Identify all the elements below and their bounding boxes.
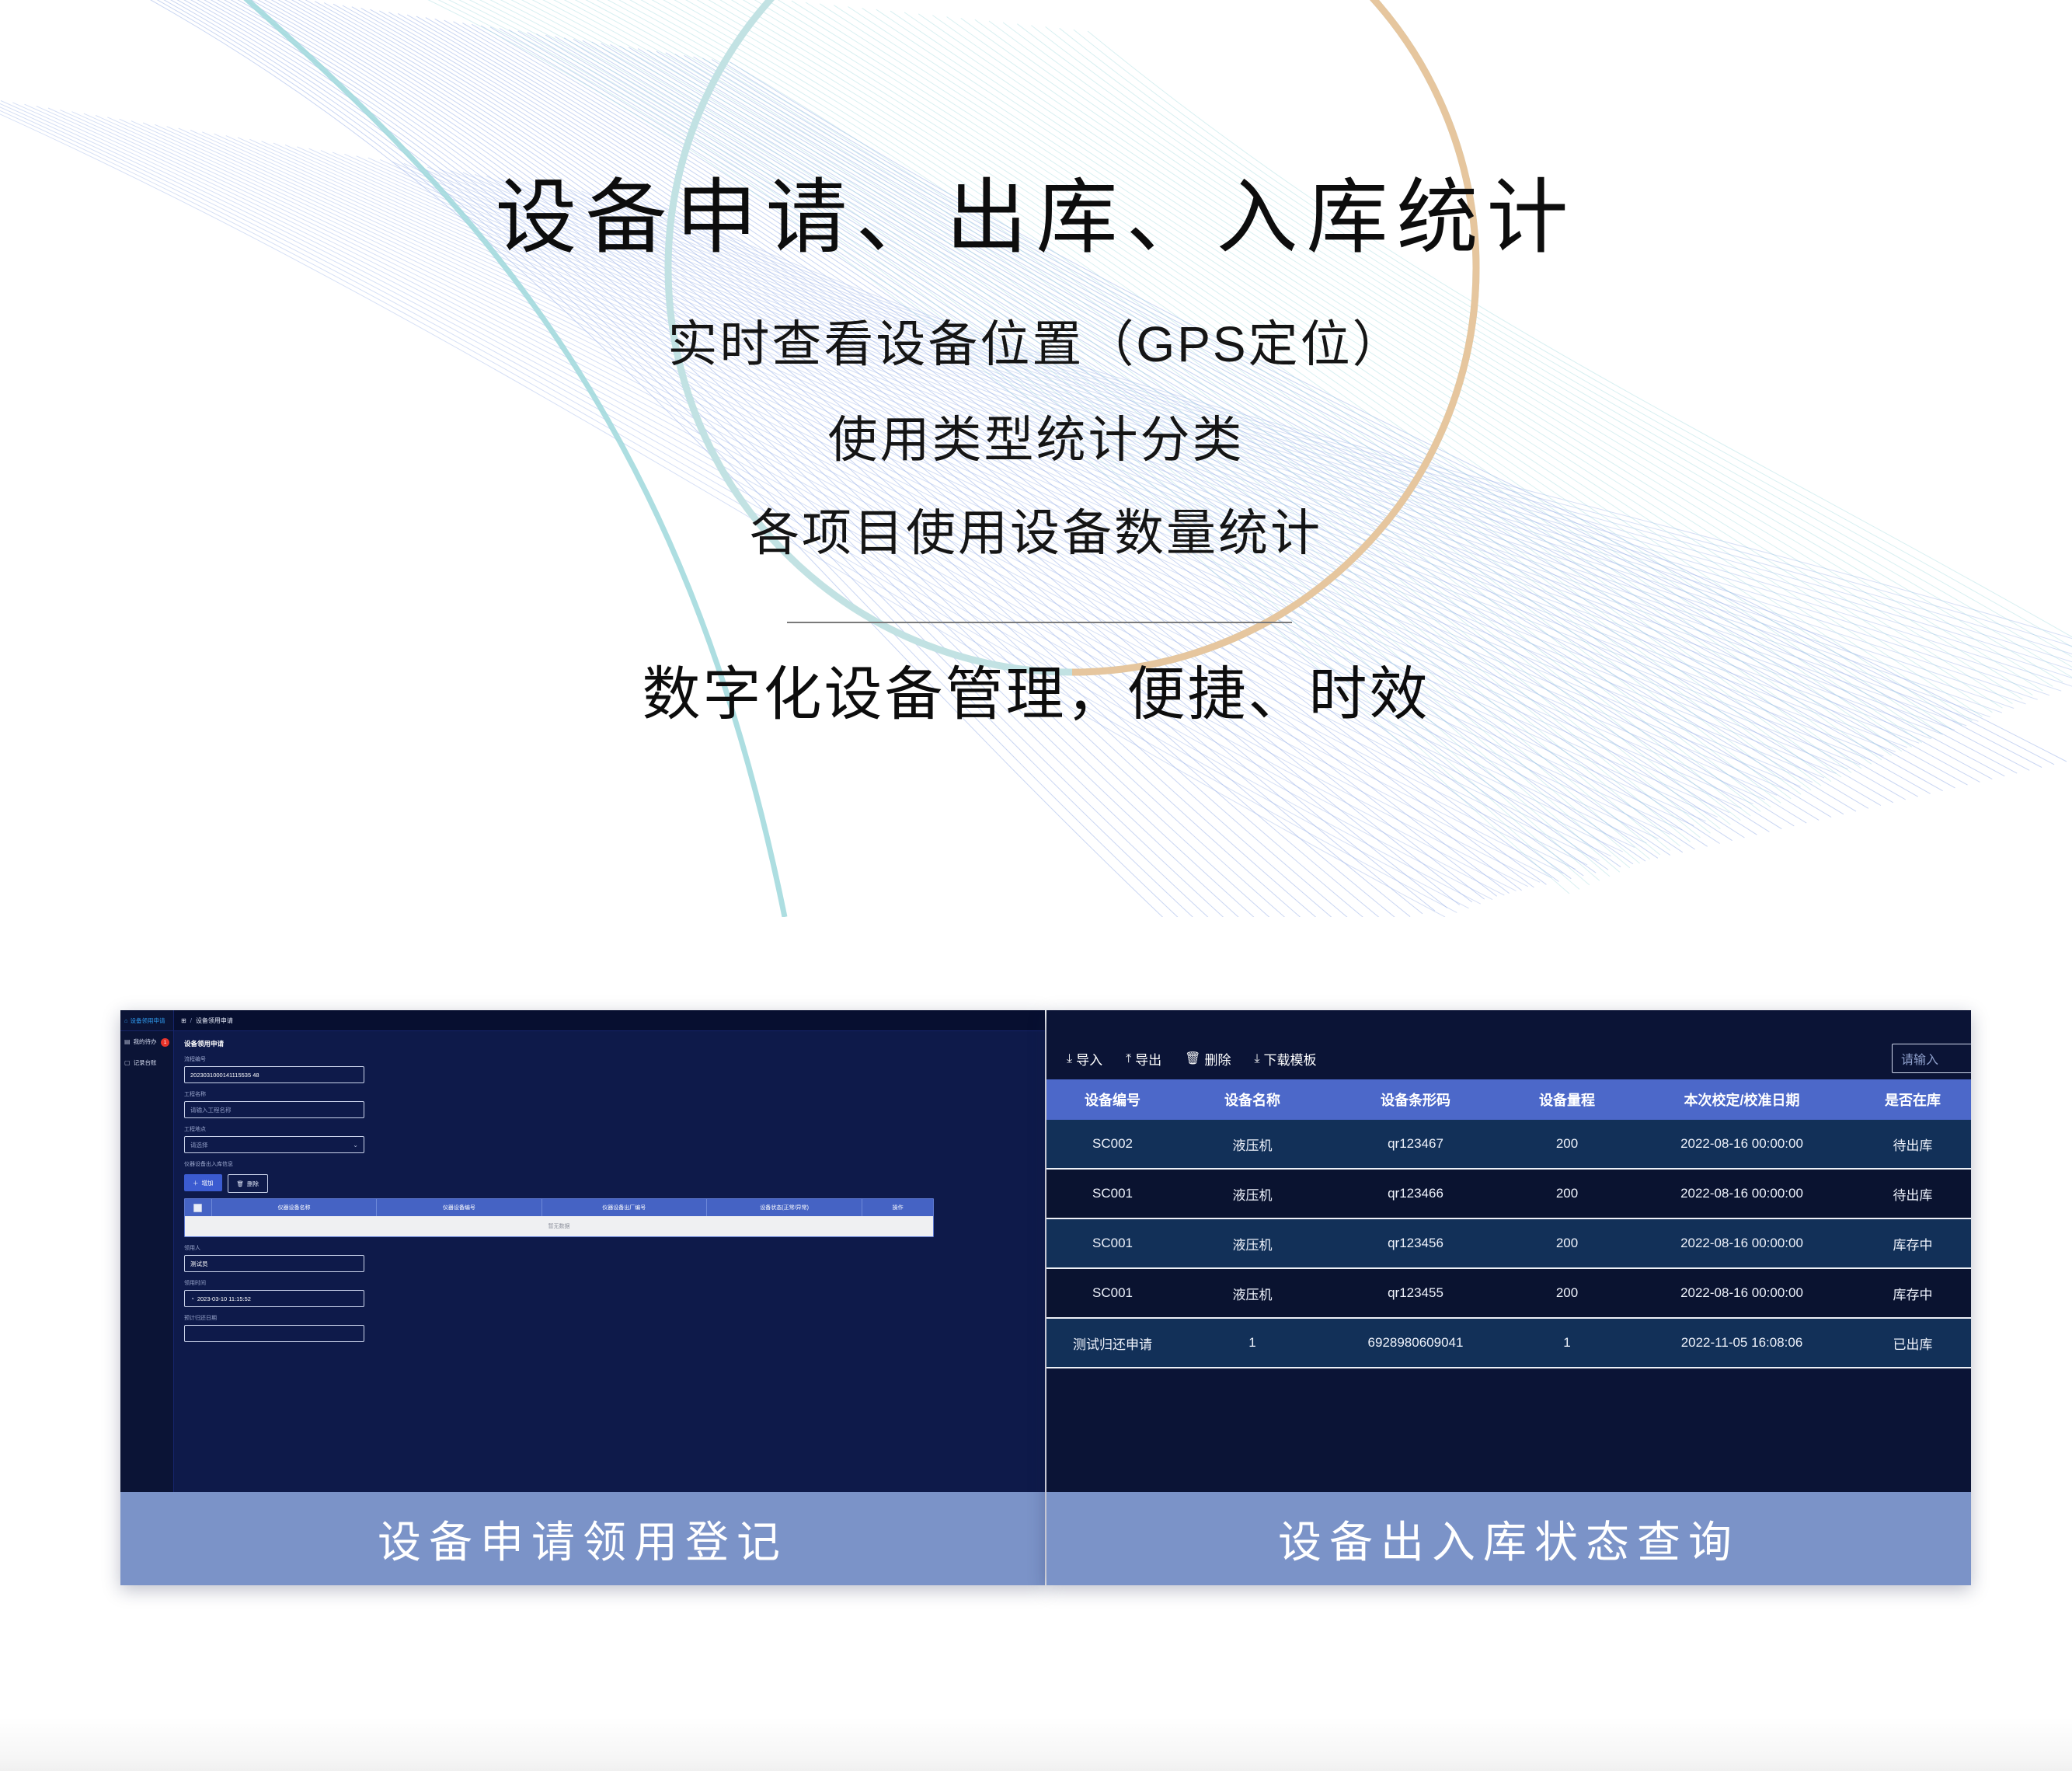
breadcrumb-separator: / <box>190 1017 192 1024</box>
cell-device-no: SC001 <box>1046 1285 1179 1301</box>
cell-device-no: SC002 <box>1046 1136 1179 1152</box>
cell-device-no: SC001 <box>1046 1186 1179 1201</box>
select-all-checkbox[interactable] <box>185 1199 212 1216</box>
import-label: 导入 <box>1076 1049 1102 1069</box>
right-caption-bar: 设备出入库状态查询 <box>1046 1492 1971 1585</box>
download-icon: ⤓ <box>1067 1053 1072 1065</box>
trash-icon: 🗑 <box>237 1180 245 1187</box>
cell-device-name: 液压机 <box>1179 1284 1326 1303</box>
hero-subtitle-1: 实时查看设备位置（GPS定位） <box>0 316 2072 374</box>
delete-label: 删除 <box>1204 1049 1231 1069</box>
right-screenshot-card: ⤓ 导入 ⤒ 导出 🗑 删除 ⤓ 下载模板 <box>1046 1010 1971 1585</box>
clock-icon: ◔ <box>190 1295 194 1302</box>
download-template-label: 下载模板 <box>1264 1049 1317 1069</box>
status-badge: 待出库 <box>1854 1135 1971 1154</box>
sidebar-item-my-todo[interactable]: ▤ 我的待办 1 <box>120 1031 173 1052</box>
status-badge: 已出库 <box>1854 1333 1971 1353</box>
cell-barcode: qr123467 <box>1326 1136 1505 1152</box>
status-badge: 待出库 <box>1854 1184 1971 1204</box>
cell-calibration-date: 2022-08-16 00:00:00 <box>1629 1186 1854 1201</box>
receive-time-label: 领用时间 <box>184 1279 1035 1287</box>
project-name-placeholder: 请输入工程名称 <box>190 1106 232 1114</box>
left-main-area: ⊞ / 设备领用申请 设备领用申请 流程编号 20230310001411155… <box>174 1010 1045 1492</box>
sidebar-item-label: 记录台账 <box>134 1058 157 1067</box>
export-label: 导出 <box>1135 1049 1161 1069</box>
project-name-label: 工程名称 <box>184 1090 1035 1098</box>
sidebar-app-title: ⌂ 设备领用申请 <box>120 1010 173 1031</box>
cell-calibration-date: 2022-08-16 00:00:00 <box>1629 1136 1854 1152</box>
flow-no-label: 流程编号 <box>184 1055 1035 1063</box>
return-date-label: 预计归还日期 <box>184 1314 1035 1322</box>
status-badge: 库存中 <box>1854 1284 1971 1303</box>
screenshot-row: ⌂ 设备领用申请 ▤ 我的待办 1 ▢ 记录台账 <box>0 1010 2072 1585</box>
flow-no-input[interactable]: 2023031000141115535 48 <box>184 1066 364 1083</box>
project-site-label: 工程地点 <box>184 1125 1035 1133</box>
col-device-name: 设备名称 <box>1179 1089 1326 1110</box>
device-grid-header: 仪器设备名称 仪器设备编号 仪器设备出厂编号 设备状态(正常/异常) 操作 <box>185 1199 933 1216</box>
grid-col-device-name: 仪器设备名称 <box>212 1199 377 1216</box>
project-site-value: 请选择 <box>190 1141 208 1149</box>
trash-icon: 🗑 <box>1185 1053 1200 1065</box>
cell-range: 200 <box>1505 1236 1629 1251</box>
table-row[interactable]: SC002 液压机 qr123467 200 2022-08-16 00:00:… <box>1046 1120 1971 1170</box>
device-grid: 仪器设备名称 仪器设备编号 仪器设备出厂编号 设备状态(正常/异常) 操作 暂无… <box>184 1198 934 1237</box>
cell-barcode: qr123456 <box>1326 1236 1505 1251</box>
receiver-value: 测试员 <box>190 1260 208 1268</box>
todo-badge: 1 <box>161 1038 169 1047</box>
hero-divider <box>787 622 1292 623</box>
col-calibration-date: 本次校定/校准日期 <box>1629 1089 1854 1110</box>
cell-barcode: qr123455 <box>1326 1285 1505 1301</box>
delete-row-button[interactable]: 🗑 删除 <box>228 1174 269 1193</box>
cell-range: 200 <box>1505 1136 1629 1152</box>
col-in-stock: 是否在库 <box>1854 1089 1971 1110</box>
breadcrumb: ⊞ / 设备领用申请 <box>174 1010 1045 1031</box>
import-button[interactable]: ⤓ 导入 <box>1067 1049 1102 1069</box>
grid-col-action: 操作 <box>862 1199 933 1216</box>
receiver-input[interactable]: 测试员 <box>184 1255 364 1272</box>
cell-device-name: 液压机 <box>1179 1234 1326 1253</box>
cell-device-no: 测试归还申请 <box>1046 1333 1179 1353</box>
hero-tagline: 数字化设备管理，便捷、时效 <box>0 647 2072 731</box>
inventory-toolbar: ⤓ 导入 ⤒ 导出 🗑 删除 ⤓ 下载模板 <box>1046 1010 1971 1079</box>
cell-barcode: qr123466 <box>1326 1186 1505 1201</box>
cell-device-name: 液压机 <box>1179 1135 1326 1154</box>
table-row[interactable]: SC001 液压机 qr123455 200 2022-08-16 00:00:… <box>1046 1269 1971 1319</box>
sidebar-item-ledger[interactable]: ▢ 记录台账 <box>120 1052 173 1073</box>
cell-device-name: 液压机 <box>1179 1184 1326 1204</box>
hero-subtitle-3: 各项目使用设备数量统计 <box>0 505 2072 563</box>
cell-range: 1 <box>1505 1335 1629 1351</box>
project-site-select[interactable]: 请选择 ⌄ <box>184 1136 364 1153</box>
poster-page: 设备申请、出库、入库统计 实时查看设备位置（GPS定位） 使用类型统计分类 各项… <box>0 0 2072 1771</box>
cell-range: 200 <box>1505 1285 1629 1301</box>
cell-calibration-date: 2022-08-16 00:00:00 <box>1629 1285 1854 1301</box>
col-device-no: 设备编号 <box>1046 1089 1179 1110</box>
cell-device-no: SC001 <box>1046 1236 1179 1251</box>
col-range: 设备量程 <box>1505 1089 1629 1110</box>
add-row-label: 增加 <box>202 1179 214 1187</box>
cell-calibration-date: 2022-08-16 00:00:00 <box>1629 1236 1854 1251</box>
delete-row-label: 删除 <box>247 1180 259 1188</box>
right-caption-label: 设备出入库状态查询 <box>1278 1508 1739 1571</box>
right-app-window: ⤓ 导入 ⤒ 导出 🗑 删除 ⤓ 下载模板 <box>1046 1010 1971 1492</box>
clipboard-icon: ▤ <box>124 1039 131 1045</box>
hero-title: 设备申请、出库、入库统计 <box>0 173 2072 264</box>
receive-time-value: 2023-03-10 11:15:52 <box>197 1295 251 1302</box>
page-bottom-shadow <box>0 1717 2072 1771</box>
plus-icon: ＋ <box>193 1179 199 1187</box>
inventory-table-header: 设备编号 设备名称 设备条形码 设备量程 本次校定/校准日期 是否在库 <box>1046 1079 1971 1120</box>
cell-calibration-date: 2022-11-05 16:08:06 <box>1629 1335 1854 1351</box>
grid-empty-message: 暂无数据 <box>185 1216 933 1236</box>
checkbox-icon <box>193 1204 202 1212</box>
grid-col-device-no: 仪器设备编号 <box>377 1199 542 1216</box>
grid-action-buttons: ＋ 增加 🗑 删除 <box>184 1174 1035 1193</box>
left-screenshot-card: ⌂ 设备领用申请 ▤ 我的待办 1 ▢ 记录台账 <box>120 1010 1045 1585</box>
sidebar-app-title-label: 设备领用申请 <box>131 1016 165 1025</box>
project-name-input[interactable]: 请输入工程名称 <box>184 1101 364 1118</box>
home-icon: ⌂ <box>124 1017 128 1024</box>
search-placeholder: 请输入 <box>1901 1049 1938 1068</box>
download-icon: ⤓ <box>1254 1053 1259 1065</box>
grid-col-factory-no: 仪器设备出厂编号 <box>542 1199 707 1216</box>
chevron-down-icon: ⌄ <box>353 1142 358 1149</box>
download-template-button[interactable]: ⤓ 下载模板 <box>1254 1049 1316 1069</box>
hero-subtitle-2: 使用类型统计分类 <box>0 412 2072 469</box>
table-row[interactable]: SC001 液压机 qr123456 200 2022-08-16 00:00:… <box>1046 1219 1971 1269</box>
application-form: 设备领用申请 流程编号 2023031000141115535 48 工程名称 … <box>174 1031 1045 1492</box>
cell-device-name: 1 <box>1179 1335 1326 1351</box>
left-caption-bar: 设备申请领用登记 <box>120 1492 1045 1585</box>
search-input[interactable]: 请输入 <box>1892 1044 1971 1073</box>
table-row[interactable]: SC001 液压机 qr123466 200 2022-08-16 00:00:… <box>1046 1170 1971 1219</box>
left-sidebar: ⌂ 设备领用申请 ▤ 我的待办 1 ▢ 记录台账 <box>120 1010 174 1492</box>
grid-icon[interactable]: ⊞ <box>181 1017 186 1024</box>
left-caption-label: 设备申请领用登记 <box>378 1508 788 1571</box>
receiver-label: 领用人 <box>184 1244 1035 1252</box>
upload-icon: ⤒ <box>1126 1053 1131 1065</box>
receive-time-input[interactable]: ◔ 2023-03-10 11:15:52 <box>184 1290 364 1307</box>
form-title: 设备领用申请 <box>184 1039 1035 1048</box>
grid-col-status: 设备状态(正常/异常) <box>707 1199 862 1216</box>
left-app-window: ⌂ 设备领用申请 ▤ 我的待办 1 ▢ 记录台账 <box>120 1010 1045 1492</box>
inventory-table: 设备编号 设备名称 设备条形码 设备量程 本次校定/校准日期 是否在库 SC00… <box>1046 1079 1971 1368</box>
return-date-input[interactable] <box>184 1325 364 1342</box>
breadcrumb-current: 设备领用申请 <box>196 1016 233 1025</box>
col-barcode: 设备条形码 <box>1326 1089 1505 1110</box>
table-row[interactable]: 测试归还申请 1 6928980609041 1 2022-11-05 16:0… <box>1046 1319 1971 1368</box>
sidebar-item-label: 我的待办 <box>134 1037 157 1046</box>
flow-no-value: 2023031000141115535 48 <box>190 1072 259 1079</box>
status-badge: 库存中 <box>1854 1234 1971 1253</box>
export-button[interactable]: ⤒ 导出 <box>1126 1049 1161 1069</box>
cell-range: 200 <box>1505 1186 1629 1201</box>
delete-button[interactable]: 🗑 删除 <box>1185 1049 1231 1069</box>
file-icon: ▢ <box>124 1060 131 1066</box>
device-section-label: 仪器设备出入库信息 <box>184 1160 1035 1168</box>
cell-barcode: 6928980609041 <box>1326 1335 1505 1351</box>
add-row-button[interactable]: ＋ 增加 <box>184 1174 222 1191</box>
